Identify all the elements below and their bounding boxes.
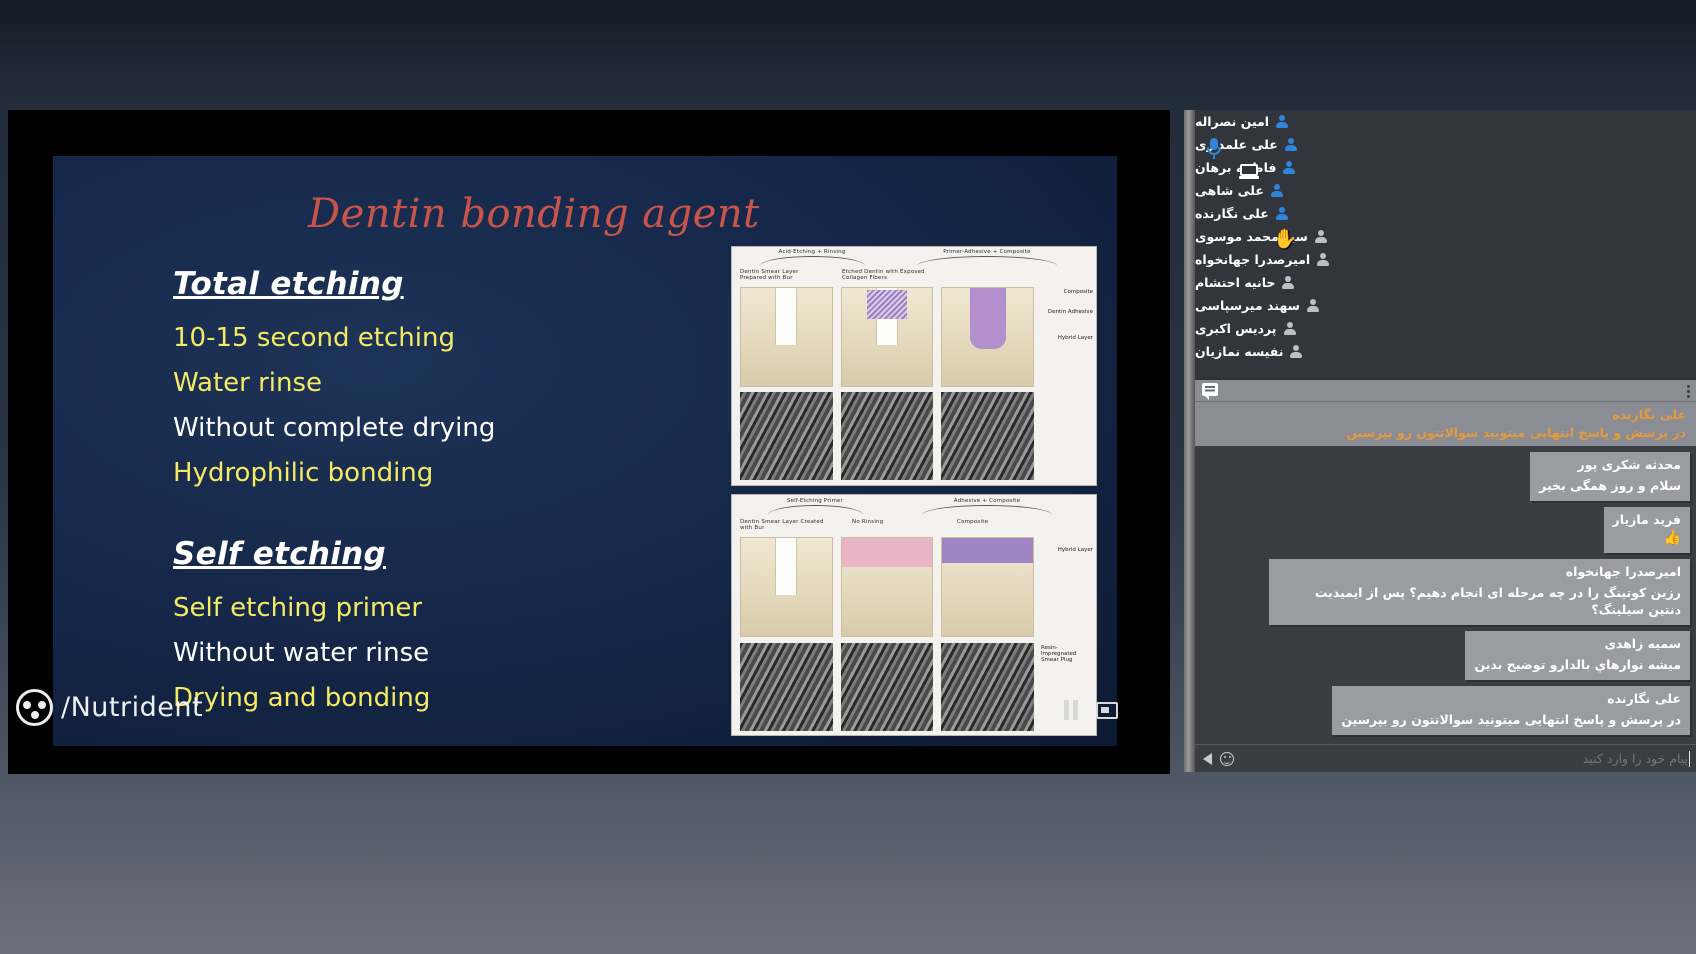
arc-left — [768, 505, 863, 515]
participant-name: علی شاهی — [1195, 183, 1264, 198]
slide-bullet: Drying and bonding — [173, 676, 673, 721]
chat-message: محدثه شکری پور سلام و روز همگی بخیر — [1530, 452, 1690, 501]
message-text: میشه نوارهاي بالدارو توضیح بدین — [1474, 656, 1681, 673]
figure-label-hybrid-layer: Hybrid Layer — [1058, 547, 1093, 553]
slide-bullet: Without complete drying — [173, 406, 673, 451]
arc-left — [760, 256, 865, 266]
slide-heading-self-etching: Self etching — [173, 536, 673, 572]
person-icon — [1284, 322, 1296, 335]
figure-tooth-panel — [941, 287, 1034, 387]
pinned-text: در پرسش و پاسخ انتهایی میتونید سوالاتتون… — [1205, 425, 1686, 440]
participant-row[interactable]: حانیه احتشام — [1195, 271, 1696, 294]
figure-total-etching: Acid-Etching + Rinsing Primer-Adhesive +… — [731, 246, 1097, 486]
presentation-slide: Dentin bonding agent Total etching 10-15… — [53, 156, 1117, 746]
participant-name: امیرصدرا جهانخواه — [1195, 252, 1310, 267]
chat-message: سمیه زاهدی میشه نوارهاي بالدارو توضیح بد… — [1465, 631, 1690, 680]
figure-tooth-panel — [941, 537, 1034, 637]
chat-message: علی نگارنده در پرسش و پاسخ انتهایی میتون… — [1332, 686, 1690, 735]
person-icon — [1276, 207, 1288, 220]
participants-panel: ✋ امین نصراله علی علمداری فاطمه برهان عل… — [1195, 110, 1696, 378]
video-stage[interactable]: Dentin bonding agent Total etching 10-15… — [8, 110, 1170, 774]
person-icon — [1307, 299, 1319, 312]
chat-options-icon[interactable] — [1687, 385, 1690, 398]
message-author: سمیه زاهدی — [1474, 636, 1681, 651]
figure-panel-label: Etched Dentin with Exposed Collagen Fibe… — [842, 269, 937, 281]
figure-diagram-row — [736, 537, 1038, 637]
slide-body: Total etching 10-15 second etching Water… — [173, 266, 673, 721]
participant-row[interactable]: فاطمه برهان — [1195, 156, 1696, 179]
screen-share-indicator-icon — [1239, 164, 1259, 180]
participant-name: امین نصراله — [1195, 114, 1269, 129]
arc-right — [917, 256, 1057, 266]
participant-row[interactable]: علی نگارنده — [1195, 202, 1696, 225]
participant-row[interactable]: سید محمد موسوی — [1195, 225, 1696, 248]
participant-row[interactable]: امیرصدرا جهانخواه — [1195, 248, 1696, 271]
message-text: رزین کوتینگ را در چه مرحله ای انجام دهیم… — [1278, 584, 1681, 618]
participant-row[interactable]: پردیس اکبری — [1195, 317, 1696, 340]
message-author: محدثه شکری پور — [1539, 457, 1681, 472]
figure-sem-image — [841, 392, 934, 480]
message-author: فرید مازیار — [1613, 512, 1681, 527]
emoji-icon[interactable] — [1220, 752, 1234, 766]
figure-label-dentin-adhesive: Dentin Adhesive — [1048, 309, 1093, 315]
top-bar — [0, 0, 1696, 110]
slide-bullet: Water rinse — [173, 361, 673, 406]
nutrident-logo-icon — [16, 689, 53, 726]
pinned-author: علی نگارنده — [1205, 407, 1686, 422]
figure-panel-label: Dentin Smear Layer Created with Bur — [740, 519, 825, 531]
person-icon — [1271, 184, 1283, 197]
figure-tooth-panel — [841, 537, 934, 637]
screen-share-icon[interactable] — [1096, 702, 1118, 719]
chat-input-bar[interactable] — [1195, 744, 1696, 772]
slide-bullet: Self etching primer — [173, 586, 673, 631]
chat-panel: علی نگارنده در پرسش و پاسخ انتهایی میتون… — [1195, 380, 1696, 772]
participant-name: پردیس اکبری — [1195, 321, 1277, 336]
chat-message: فرید مازیار 👍 — [1604, 507, 1690, 553]
figure-tooth-panel — [740, 287, 833, 387]
person-icon — [1315, 230, 1327, 243]
person-icon — [1276, 115, 1288, 128]
message-author: علی نگارنده — [1341, 691, 1681, 706]
chat-input[interactable] — [1242, 751, 1688, 766]
participant-name: سهند میرسپاسی — [1195, 298, 1300, 313]
figure-panel-label: No Rinsing — [852, 519, 912, 525]
microphone-icon[interactable] — [1206, 138, 1222, 160]
person-icon — [1285, 138, 1297, 151]
message-author: امیرصدرا جهانخواه — [1278, 564, 1681, 579]
participant-row[interactable]: امین نصراله — [1195, 110, 1696, 133]
arc-right — [922, 505, 1052, 515]
pause-icon[interactable] — [1063, 700, 1080, 720]
figure-sem-row — [736, 392, 1038, 480]
slide-bullet: Without water rinse — [173, 631, 673, 676]
chat-message: امیرصدرا جهانخواه رزین کوتینگ را در چه م… — [1269, 559, 1690, 625]
figure-panel-label: Composite — [957, 519, 1027, 525]
participant-name: حانیه احتشام — [1195, 275, 1275, 290]
chat-bubble-icon — [1202, 383, 1218, 396]
slide-title: Dentin bonding agent — [308, 191, 760, 237]
text-caret — [1689, 751, 1690, 767]
figure-arc-label: Adhesive + Composite — [917, 498, 1057, 504]
participant-row[interactable]: علی علمداری — [1195, 133, 1696, 156]
figure-label-hybrid-layer: Hybrid Layer — [1058, 335, 1093, 341]
send-icon[interactable] — [1203, 753, 1212, 765]
participant-row[interactable]: سهند میرسپاسی — [1195, 294, 1696, 317]
watermark-text: /Nutrident — [61, 692, 203, 723]
figure-diagram-row — [736, 287, 1038, 387]
figure-sem-image — [941, 392, 1034, 480]
figure-sem-row — [736, 643, 1038, 731]
participant-row[interactable]: نفیسه نمازیان — [1195, 340, 1696, 363]
person-icon — [1290, 345, 1302, 358]
person-icon — [1283, 161, 1295, 174]
message-emoji: 👍 — [1613, 530, 1681, 546]
figure-tooth-panel — [740, 537, 833, 637]
participant-name: فاطمه برهان — [1195, 160, 1276, 175]
figure-tooth-panel — [841, 287, 934, 387]
figure-self-etching: Self-Etching Primer Adhesive + Composite… — [731, 494, 1097, 736]
message-text: در پرسش و پاسخ انتهایی میتونید سوالاتتون… — [1341, 711, 1681, 728]
figure-arc-label: Self-Etching Primer — [760, 498, 870, 504]
slide-bullet: Hydrophilic bonding — [173, 451, 673, 496]
chat-message-list[interactable]: محدثه شکری پور سلام و روز همگی بخیر فرید… — [1195, 446, 1696, 744]
figure-sem-image — [740, 392, 833, 480]
figure-arc-label: Primer-Adhesive + Composite — [907, 249, 1067, 255]
participant-name: علی نگارنده — [1195, 206, 1269, 221]
slide-spacer — [173, 496, 673, 536]
figure-sem-image — [740, 643, 833, 731]
figure-panel-label: Dentin Smear Layer Prepared with Bur — [740, 269, 825, 281]
message-text: سلام و روز همگی بخیر — [1539, 477, 1681, 494]
watermark: /Nutrident — [16, 689, 203, 726]
slide-bullet: 10-15 second etching — [173, 316, 673, 361]
figure-label-composite: Composite — [1064, 289, 1093, 295]
panel-divider[interactable] — [1184, 110, 1195, 772]
hand-cursor-icon: ✋ — [1273, 230, 1291, 252]
video-controls[interactable] — [1063, 700, 1118, 720]
participant-name: نفیسه نمازیان — [1195, 344, 1283, 359]
figure-arc-label: Acid-Etching + Rinsing — [752, 249, 872, 255]
figure-sem-image — [941, 643, 1034, 731]
chat-header — [1195, 380, 1696, 402]
slide-heading-total-etching: Total etching — [173, 266, 673, 302]
person-icon — [1317, 253, 1329, 266]
right-panel: ✋ امین نصراله علی علمداری فاطمه برهان عل… — [1184, 110, 1696, 772]
figure-label-smear-plug: Resin-Impregnated Smear Plug — [1041, 645, 1093, 663]
figure-sem-image — [841, 643, 934, 731]
pinned-message: علی نگارنده در پرسش و پاسخ انتهایی میتون… — [1195, 402, 1696, 446]
participant-row[interactable]: علی شاهی — [1195, 179, 1696, 202]
person-icon — [1282, 276, 1294, 289]
